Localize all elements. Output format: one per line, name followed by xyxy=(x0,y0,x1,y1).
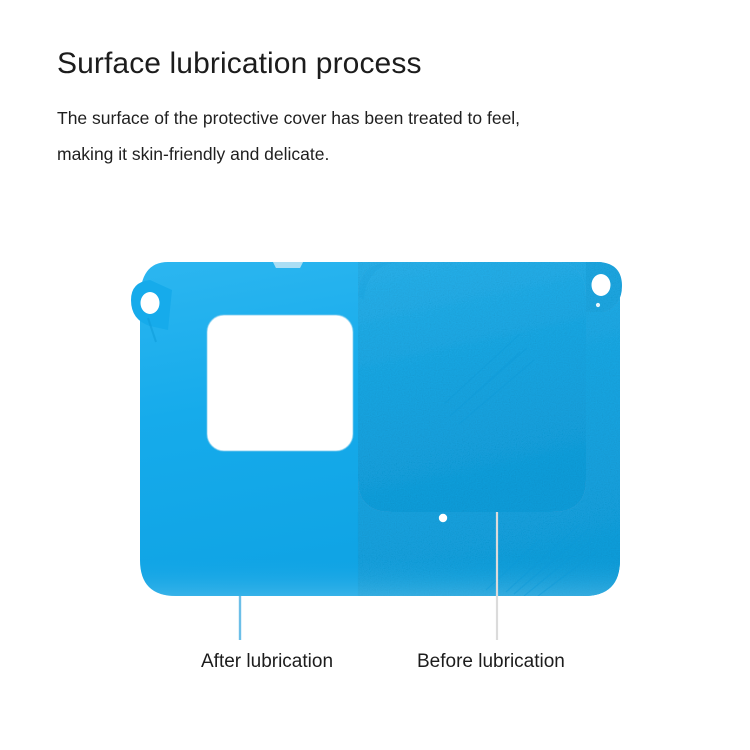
product-infographic-page: Surface lubrication process The surface … xyxy=(0,0,750,750)
callout-label-after: After lubrication xyxy=(201,651,333,673)
callout-label-before: Before lubrication xyxy=(417,651,565,673)
callout-leaders xyxy=(0,0,750,750)
